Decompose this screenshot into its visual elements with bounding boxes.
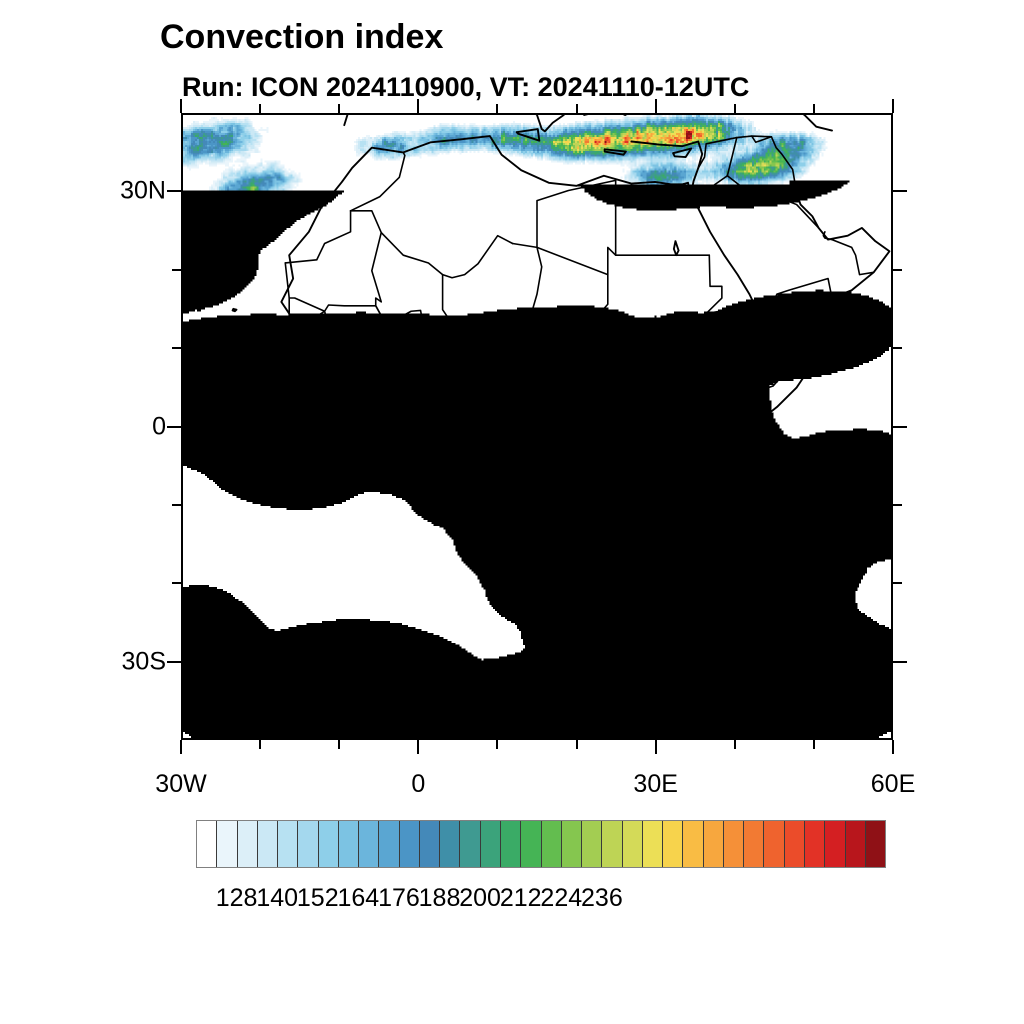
- colorbar-cell: [420, 821, 440, 867]
- country-border: [285, 233, 381, 312]
- colorbar-cell: [623, 821, 643, 867]
- colorbar-tick-label: 152: [297, 884, 339, 913]
- colorbar-cell: [400, 821, 420, 867]
- colorbar-cell: [440, 821, 460, 867]
- colorbar-cell: [744, 821, 764, 867]
- colorbar-cell: [481, 821, 501, 867]
- x-axis-label: 30W: [155, 770, 206, 799]
- y-tick-major-right: [893, 426, 907, 428]
- coastline: [674, 241, 679, 255]
- coastline: [789, 115, 832, 131]
- x-tick-minor: [734, 740, 736, 749]
- colorbar-cell: [521, 821, 541, 867]
- y-axis-label: 30S: [100, 647, 166, 676]
- colorbar-cell: [501, 821, 521, 867]
- colorbar-tick-label: 224: [540, 884, 582, 913]
- colorbar-cell: [866, 821, 885, 867]
- page-title: Convection index: [160, 18, 443, 57]
- x-tick-minor: [496, 740, 498, 749]
- country-border: [351, 211, 443, 275]
- colorbar-cell: [379, 821, 399, 867]
- map-svg: [183, 115, 891, 738]
- y-tick-minor-right: [893, 582, 902, 584]
- colorbar-tick-label: 200: [459, 884, 501, 913]
- colorbar-cell: [785, 821, 805, 867]
- x-axis-label: 30E: [633, 770, 677, 799]
- colorbar-cell: [683, 821, 703, 867]
- x-tick-minor: [576, 740, 578, 749]
- colorbar-cell: [319, 821, 339, 867]
- colorbar-cell: [460, 821, 480, 867]
- colorbar-cell: [217, 821, 237, 867]
- colorbar-cell: [542, 821, 562, 867]
- colorbar-cell: [643, 821, 663, 867]
- country-border: [608, 247, 709, 274]
- colorbar-tick-label: 128: [216, 884, 258, 913]
- colorbar-cell: [298, 821, 318, 867]
- y-tick-major-right: [893, 661, 907, 663]
- y-tick-minor: [172, 504, 181, 506]
- country-border: [443, 236, 513, 278]
- colorbar-cell: [704, 821, 724, 867]
- x-axis-label: 60E: [871, 770, 915, 799]
- y-tick-minor-right: [893, 504, 902, 506]
- y-axis-label: 30N: [100, 177, 166, 206]
- x-tick-major: [655, 740, 657, 754]
- colorbar: [196, 820, 886, 868]
- y-tick-minor: [172, 582, 181, 584]
- colorbar-tick-label: 140: [256, 884, 298, 913]
- y-axis-label: 0: [100, 412, 166, 441]
- colorbar-tick-label: 236: [581, 884, 623, 913]
- colorbar-cell: [339, 821, 359, 867]
- colorbar-cell: [602, 821, 622, 867]
- colorbar-cell: [724, 821, 744, 867]
- colorbar-cell: [258, 821, 278, 867]
- colorbar-cell: [278, 821, 298, 867]
- colorbar-cell: [582, 821, 602, 867]
- figure-canvas: Convection index Run: ICON 2024110900, V…: [0, 0, 1024, 1024]
- x-tick-major: [180, 740, 182, 754]
- colorbar-cell: [663, 821, 683, 867]
- coastline: [233, 309, 237, 311]
- page-subtitle: Run: ICON 2024110900, VT: 20241110-12UTC: [182, 72, 749, 103]
- y-tick-minor: [172, 269, 181, 271]
- x-tick-minor-top: [259, 104, 261, 113]
- x-tick-minor-top: [813, 104, 815, 113]
- colorbar-cell: [238, 821, 258, 867]
- x-tick-major: [417, 740, 419, 754]
- y-tick-minor-right: [893, 347, 902, 349]
- x-tick-major-top: [892, 99, 894, 113]
- x-tick-major-top: [655, 99, 657, 113]
- colorbar-cell: [846, 821, 866, 867]
- x-tick-minor-top: [338, 104, 340, 113]
- colorbar-tick-label: 176: [378, 884, 420, 913]
- x-tick-minor: [813, 740, 815, 749]
- y-tick-major: [167, 190, 181, 192]
- x-tick-minor-top: [496, 104, 498, 113]
- map-plot-area: [181, 113, 893, 740]
- colorbar-cell: [764, 821, 784, 867]
- x-tick-minor-top: [576, 104, 578, 113]
- x-tick-minor-top: [734, 104, 736, 113]
- y-tick-major: [167, 661, 181, 663]
- x-axis-label: 0: [411, 770, 425, 799]
- colorbar-cell: [359, 821, 379, 867]
- colorbar-tick-label: 164: [337, 884, 379, 913]
- colorbar-cell: [825, 821, 845, 867]
- y-tick-minor-right: [893, 269, 902, 271]
- x-tick-major: [892, 740, 894, 754]
- y-tick-major-right: [893, 190, 907, 192]
- colorbar-tick-label: 188: [419, 884, 461, 913]
- colorbar-cell: [562, 821, 582, 867]
- colorbar-tick-label: 212: [500, 884, 542, 913]
- y-tick-minor: [172, 347, 181, 349]
- country-border: [785, 200, 819, 228]
- colorbar-cell: [197, 821, 217, 867]
- colorbar-cell: [805, 821, 825, 867]
- country-border: [832, 240, 874, 275]
- x-tick-minor: [259, 740, 261, 749]
- y-tick-major: [167, 426, 181, 428]
- x-tick-major-top: [417, 99, 419, 113]
- colorbar-cells: [196, 820, 886, 868]
- x-tick-minor: [338, 740, 340, 749]
- x-tick-major-top: [180, 99, 182, 113]
